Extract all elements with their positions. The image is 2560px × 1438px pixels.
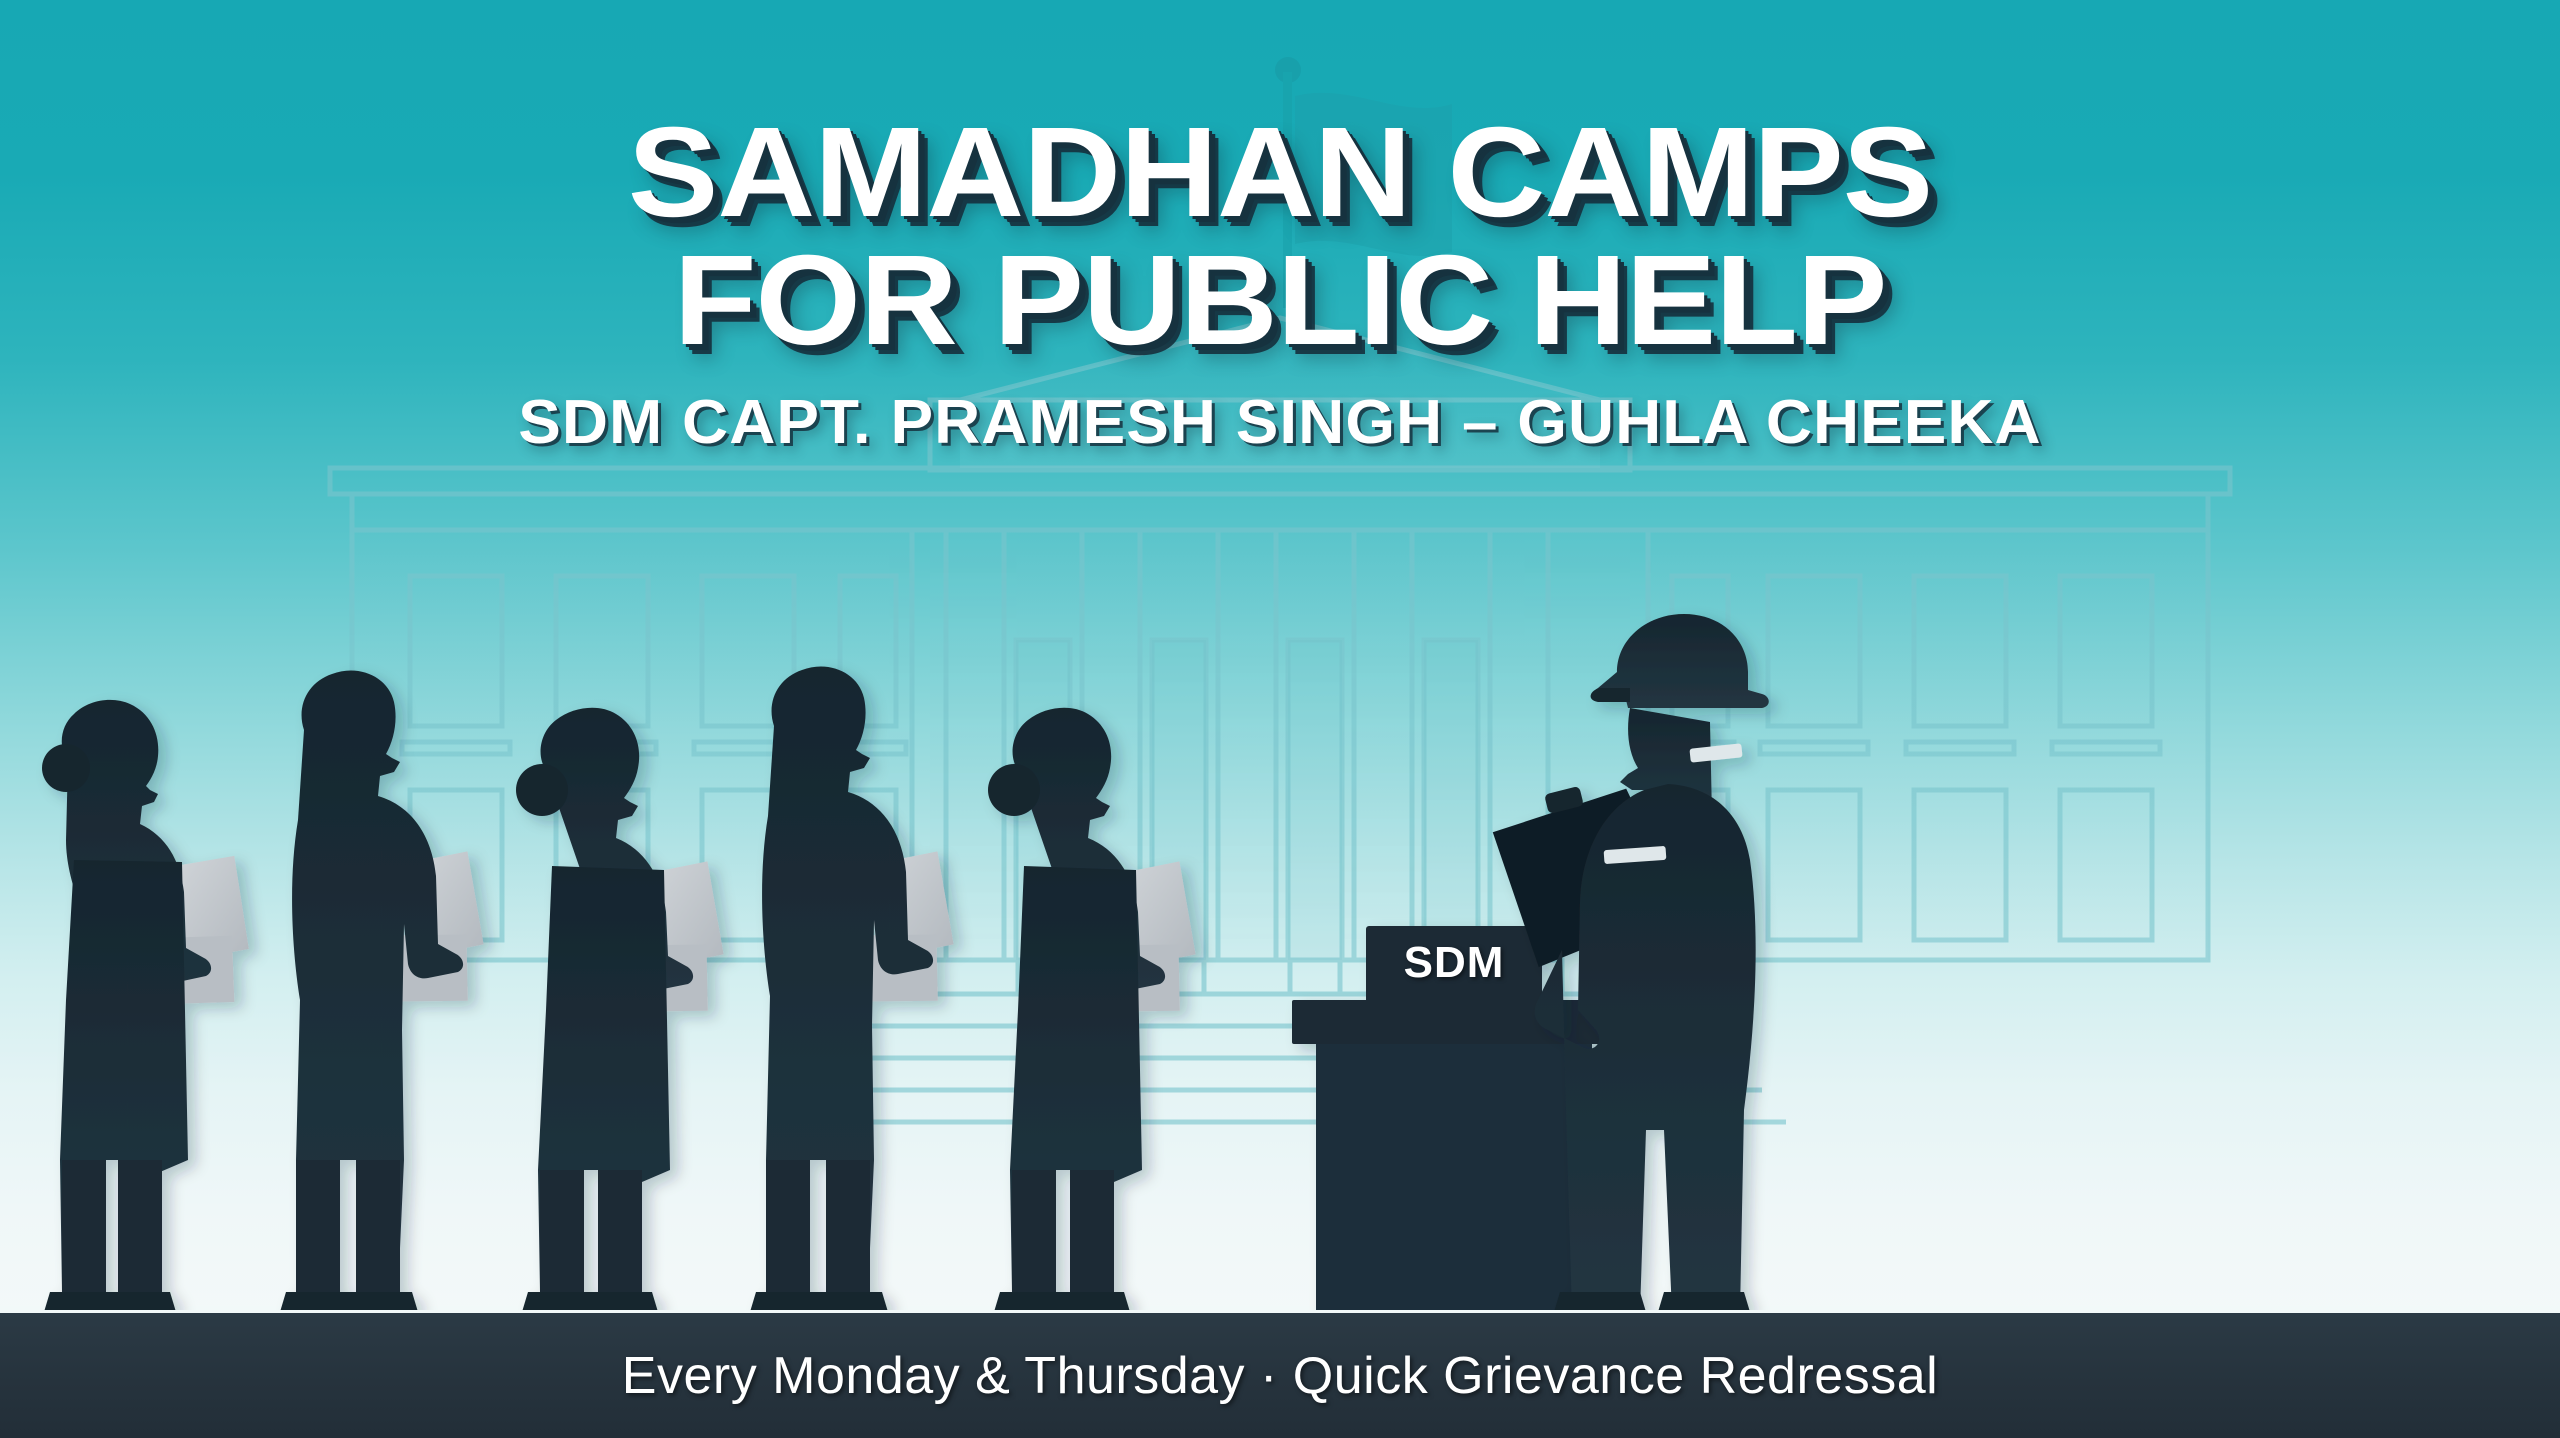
citizen-silhouette-1 bbox=[42, 700, 249, 1312]
footer-text: Every Monday & Thursday · Quick Grievanc… bbox=[622, 1346, 1938, 1406]
silhouette-figures bbox=[0, 0, 2560, 1438]
podium-body bbox=[1316, 1044, 1592, 1312]
podium-plaque bbox=[1366, 926, 1542, 1004]
citizen-silhouette-5 bbox=[988, 708, 1196, 1312]
citizen-silhouette-4 bbox=[750, 666, 954, 1312]
footer-bar: Every Monday & Thursday · Quick Grievanc… bbox=[0, 1310, 2560, 1438]
podium-desk-top bbox=[1292, 1000, 1616, 1044]
poster-canvas: SAMADHAN CAMPS FOR PUBLIC HELP SDM CAPT.… bbox=[0, 0, 2560, 1438]
citizen-silhouette-2 bbox=[280, 670, 484, 1312]
citizen-silhouette-3 bbox=[516, 708, 724, 1312]
